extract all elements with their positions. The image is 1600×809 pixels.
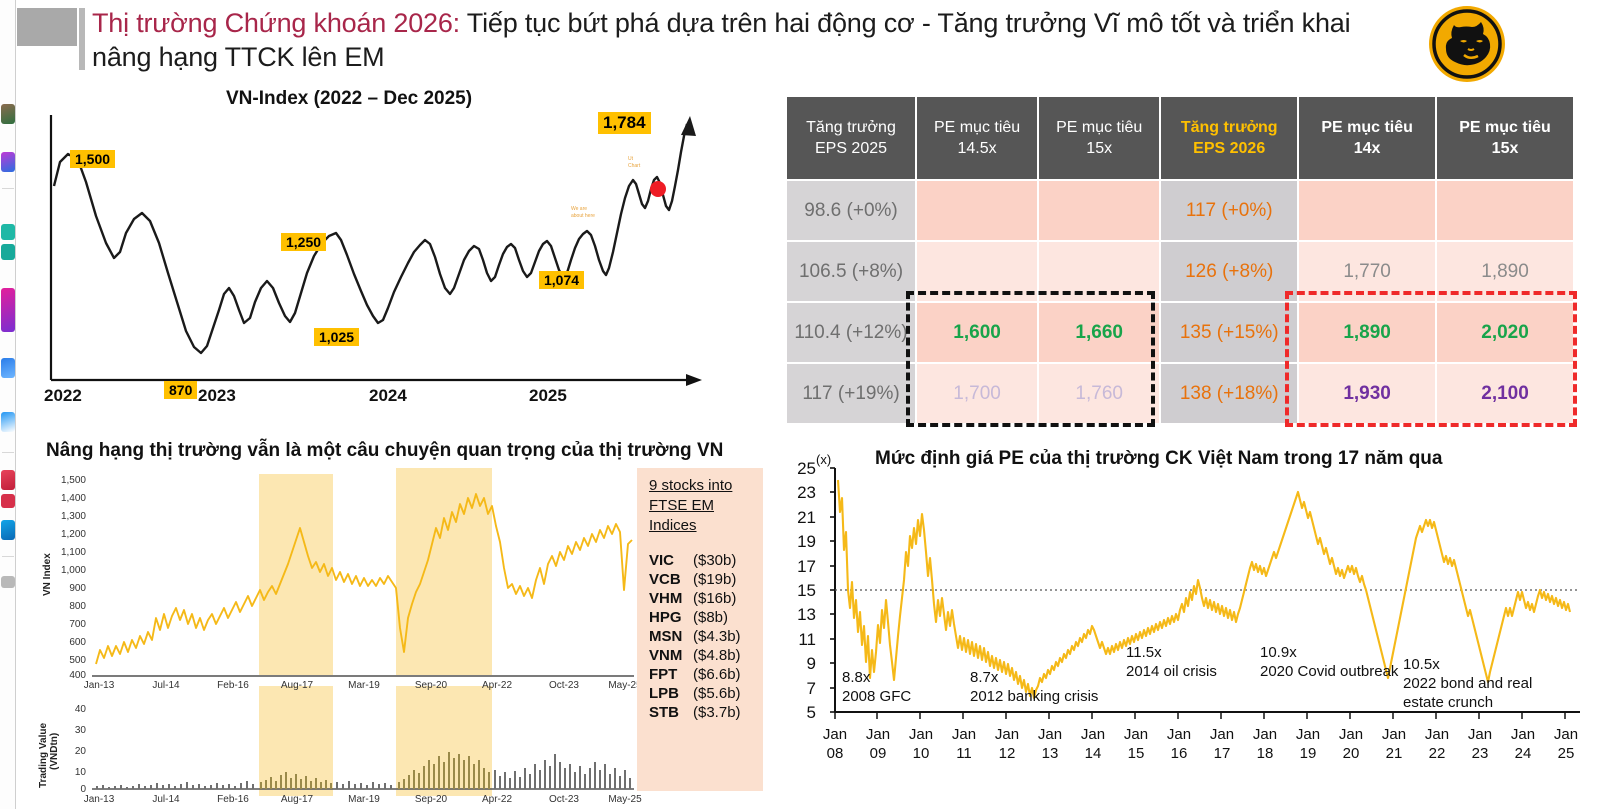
- pe-xtick-18-l1: Jan: [1246, 725, 1284, 744]
- pe-xtick-14: Jan14: [1074, 725, 1112, 763]
- xtick-lower-sep20: Sep-20: [404, 794, 458, 805]
- cell-eps25-r2: 106.5 (+8%): [786, 241, 916, 302]
- col-pe-145: PE mục tiêu 14.5x: [916, 96, 1038, 180]
- pe-xtick-08-l1: Jan: [816, 725, 854, 744]
- annotation-2022-bond-text-l1: 2022 bond and real: [1403, 674, 1532, 693]
- pe-xtick-24-l2: 24: [1504, 744, 1542, 763]
- ytick-500: 500: [46, 655, 86, 666]
- stock-value-stb: ($3.7b): [693, 704, 741, 721]
- annotation-2020-covid-text: 2020 Covid outbreak: [1260, 662, 1398, 681]
- pe-xtick-10-l1: Jan: [902, 725, 940, 744]
- col-pe-14-l2: 14x: [1354, 140, 1381, 157]
- pe-xtick-15: Jan15: [1117, 725, 1155, 763]
- annotation-2022-bond-text-l2: estate crunch: [1403, 693, 1532, 712]
- list-item: LPB($5.6b): [649, 685, 763, 702]
- pe-xtick-15-l1: Jan: [1117, 725, 1155, 744]
- app-icon-blue[interactable]: [1, 358, 15, 378]
- list-item: VNM($4.8b): [649, 647, 763, 664]
- stock-ticker-vcb: VCB: [649, 571, 693, 588]
- app-icon-magenta[interactable]: [1, 288, 15, 332]
- cell-pe145-r1: [916, 180, 1038, 241]
- pe-valuation-chart: (x) Mức định giá PE của thị trường CK Vi…: [790, 440, 1590, 800]
- pe-xtick-13-l2: 13: [1031, 744, 1069, 763]
- pe-xtick-18-l2: 18: [1246, 744, 1284, 763]
- xtick-lower-jul14: Jul-14: [139, 794, 193, 805]
- pe-xtick-10: Jan10: [902, 725, 940, 763]
- list-item: VIC($30b): [649, 552, 763, 569]
- annotation-2008-gfc: 8.8x 2008 GFC: [842, 668, 911, 706]
- pe-xtick-24: Jan24: [1504, 725, 1542, 763]
- stocks-panel-heading-l3: Indices: [649, 516, 763, 536]
- vnindex-xtick-2022: 2022: [44, 386, 82, 406]
- table-header-row: Tăng trưởng EPS 2025 PE mục tiêu 14.5x P…: [786, 96, 1574, 180]
- col-pe-145-l2: 14.5x: [958, 140, 997, 157]
- pe-xtick-21-l1: Jan: [1375, 725, 1413, 744]
- pe-xtick-15-l2: 15: [1117, 744, 1155, 763]
- pe-ytick-5: 5: [790, 703, 816, 723]
- pe-xtick-11-l2: 11: [945, 744, 983, 763]
- stocks-panel-heading-l2: FTSE EM: [649, 496, 763, 516]
- vol-ytick-40: 40: [46, 704, 86, 715]
- ytick-1300: 1,300: [46, 511, 86, 522]
- pe-xtick-17: Jan17: [1203, 725, 1241, 763]
- stock-value-fpt: ($6.6b): [693, 666, 741, 683]
- annotation-2012-banking: 8.7x 2012 banking crisis: [970, 668, 1098, 706]
- vnindex-xtick-2024: 2024: [369, 386, 407, 406]
- header-gray-block: [17, 8, 77, 46]
- pe-xtick-22-l2: 22: [1418, 744, 1456, 763]
- table-row: 98.6 (+0%) 117 (+0%): [786, 180, 1574, 241]
- pe-xtick-21-l2: 21: [1375, 744, 1413, 763]
- upgrade-block-title: Nâng hạng thị trường vẫn là một câu chuy…: [46, 440, 766, 462]
- pe-xtick-18: Jan18: [1246, 725, 1284, 763]
- ftse-em-stocks-panel: 9 stocks into FTSE EM Indices VIC($30b) …: [637, 468, 763, 791]
- table-header: Tăng trưởng EPS 2025 PE mục tiêu 14.5x P…: [786, 96, 1574, 180]
- y-axis-label-trading-value-l2: (VNDtn): [49, 733, 60, 770]
- pe-xtick-19: Jan19: [1289, 725, 1327, 763]
- pe-xtick-12: Jan12: [988, 725, 1026, 763]
- vnindex-label-1025: 1,025: [314, 328, 359, 346]
- xtick-lower-apr22: Apr-22: [470, 794, 524, 805]
- pe-xtick-16: Jan16: [1160, 725, 1198, 763]
- pe-xtick-10-l2: 10: [902, 744, 940, 763]
- cell-eps26-r2: 126 (+8%): [1160, 241, 1298, 302]
- annotation-2012-banking-value: 8.7x: [970, 668, 1098, 687]
- ytick-1400: 1,400: [46, 493, 86, 504]
- stock-value-vcb: ($19b): [693, 571, 736, 588]
- app-icon-teal[interactable]: [1, 224, 15, 240]
- ytick-1500: 1,500: [46, 475, 86, 486]
- pe-ytick-15: 15: [790, 581, 816, 601]
- stock-ticker-msn: MSN: [649, 628, 693, 645]
- ytick-800: 800: [46, 601, 86, 612]
- col-eps-2025-l1: Tăng trưởng: [806, 119, 896, 136]
- annotation-2020-covid-value: 10.9x: [1260, 643, 1398, 662]
- app-icon-photo[interactable]: [1, 104, 15, 124]
- stock-value-vic: ($30b): [693, 552, 736, 569]
- pe-xtick-20: Jan20: [1332, 725, 1370, 763]
- pe-ytick-13: 13: [790, 605, 816, 625]
- xtick-lower-jan13: Jan-13: [72, 794, 126, 805]
- vnindex-label-1074: 1,074: [539, 271, 584, 289]
- pe-xtick-09: Jan09: [859, 725, 897, 763]
- tiger-head-logo-svg: [1424, 3, 1510, 85]
- pe-ytick-25: 25: [790, 459, 816, 479]
- stock-value-vhm: ($16b): [693, 590, 736, 607]
- vnindex-xtick-2023: 2023: [198, 386, 236, 406]
- strip-divider-2: [2, 452, 14, 453]
- pe-xtick-17-l2: 17: [1203, 744, 1241, 763]
- app-icon-red2[interactable]: [1, 494, 15, 508]
- pe-xtick-14-l1: Jan: [1074, 725, 1112, 744]
- app-icon-purple[interactable]: [1, 152, 15, 172]
- xtick-upper-mar19: Mar-19: [337, 680, 391, 691]
- pe-ytick-19: 19: [790, 532, 816, 552]
- pe-xtick-23: Jan23: [1461, 725, 1499, 763]
- pe-xtick-19-l2: 19: [1289, 744, 1327, 763]
- vnindex-history-svg: [46, 468, 636, 798]
- y-axis-label-vnindex: VN Index: [42, 553, 53, 596]
- pe-ytick-21: 21: [790, 508, 816, 528]
- col-eps-2026-l1: Tăng trưởng: [1181, 119, 1278, 136]
- vnindex-marker-dot: [650, 181, 666, 197]
- pe-xtick-09-l2: 09: [859, 744, 897, 763]
- cell-eps26-r1: 117 (+0%): [1160, 180, 1298, 241]
- pe-xtick-20-l2: 20: [1332, 744, 1370, 763]
- annotation-2022-bond-value: 10.5x: [1403, 655, 1532, 674]
- vnindex-label-1250: 1,250: [281, 233, 326, 251]
- stocks-panel-heading-l1: 9 stocks into: [649, 476, 763, 496]
- col-eps-2025-l2: EPS 2025: [815, 140, 887, 157]
- col-eps-2026-l2: EPS 2026: [1193, 140, 1265, 157]
- app-icon-cyan[interactable]: [1, 520, 15, 540]
- xtick-lower-may25: May-25: [598, 794, 652, 805]
- col-pe-15-l2: 15x: [1086, 140, 1112, 157]
- stock-value-hpg: ($8b): [693, 609, 728, 626]
- pe-xtick-25-l2: 25: [1547, 744, 1585, 763]
- pe-xtick-19-l1: Jan: [1289, 725, 1327, 744]
- pe-xtick-12-l1: Jan: [988, 725, 1026, 744]
- app-icon-red[interactable]: [1, 470, 15, 490]
- list-item: MSN($4.3b): [649, 628, 763, 645]
- stock-ticker-stb: STB: [649, 704, 693, 721]
- list-item: FPT($6.6b): [649, 666, 763, 683]
- app-icon-skyblue[interactable]: [1, 412, 15, 432]
- stock-ticker-vhm: VHM: [649, 590, 693, 607]
- annotation-2014-oil-text: 2014 oil crisis: [1126, 662, 1217, 681]
- svg-text:about here: about here: [571, 213, 595, 219]
- vnindex-label-870: 870: [164, 381, 197, 399]
- pe-xtick-08: Jan08: [816, 725, 854, 763]
- annotation-2022-bond: 10.5x 2022 bond and real estate crunch: [1403, 655, 1532, 712]
- stock-value-msn: ($4.3b): [693, 628, 741, 645]
- pe-xtick-22-l1: Jan: [1418, 725, 1456, 744]
- pe-xtick-17-l1: Jan: [1203, 725, 1241, 744]
- stock-value-lpb: ($5.6b): [693, 685, 741, 702]
- xtick-lower-feb16: Feb-16: [206, 794, 260, 805]
- annotation-2008-gfc-value: 8.8x: [842, 668, 911, 687]
- stock-ticker-vnm: VNM: [649, 647, 693, 664]
- col-pe-145-l1: PE mục tiêu: [934, 119, 1020, 136]
- app-icon-gray[interactable]: [1, 576, 15, 588]
- stock-ticker-hpg: HPG: [649, 609, 693, 626]
- pe-xtick-13-l1: Jan: [1031, 725, 1069, 744]
- col-pe-15-l1: PE mục tiêu: [1056, 119, 1142, 136]
- xtick-upper-feb16: Feb-16: [206, 680, 260, 691]
- highlight-box-2026-targets: [1285, 291, 1577, 427]
- ytick-600: 600: [46, 637, 86, 648]
- pe-ytick-7: 7: [790, 679, 816, 699]
- strip-divider-3: [2, 556, 14, 557]
- pe-xtick-11: Jan11: [945, 725, 983, 763]
- svg-text:Ut: Ut: [628, 156, 634, 162]
- pe-xtick-25: Jan25: [1547, 725, 1585, 763]
- col-eps-2025: Tăng trưởng EPS 2025: [786, 96, 916, 180]
- os-taskbar-strip: [0, 0, 16, 809]
- annotation-2014-oil: 11.5x 2014 oil crisis: [1126, 643, 1217, 681]
- pe-xtick-13: Jan13: [1031, 725, 1069, 763]
- xtick-upper-oct23: Oct-23: [537, 680, 591, 691]
- pe-xtick-08-l2: 08: [816, 744, 854, 763]
- pe-xtick-24-l1: Jan: [1504, 725, 1542, 744]
- xtick-lower-oct23: Oct-23: [537, 794, 591, 805]
- annotation-2008-gfc-text: 2008 GFC: [842, 687, 911, 706]
- cell-eps26-r4: 138 (+18%): [1160, 363, 1298, 424]
- list-item: HPG($8b): [649, 609, 763, 626]
- pe-xtick-20-l1: Jan: [1332, 725, 1370, 744]
- pe-xtick-21: Jan21: [1375, 725, 1413, 763]
- pe-xtick-23-l2: 23: [1461, 744, 1499, 763]
- pe-xtick-16-l2: 16: [1160, 744, 1198, 763]
- svg-text:We are: We are: [571, 206, 587, 212]
- y-axis-label-trading-value-l1: Trading Value: [38, 723, 49, 788]
- xtick-upper-jul14: Jul-14: [139, 680, 193, 691]
- col-pe-15: PE mục tiêu 15x: [1038, 96, 1160, 180]
- xtick-lower-mar19: Mar-19: [337, 794, 391, 805]
- xtick-upper-jan13: Jan-13: [72, 680, 126, 691]
- svg-text:Chart: Chart: [628, 163, 641, 169]
- col-pe-15b-l1: PE mục tiêu: [1459, 119, 1551, 136]
- col-eps-2026: Tăng trưởng EPS 2026: [1160, 96, 1298, 180]
- vnindex-label-1784: 1,784: [598, 112, 651, 134]
- cell-pe15b-r1: [1436, 180, 1574, 241]
- ytick-700: 700: [46, 619, 86, 630]
- vnindex-label-1500: 1,500: [70, 150, 115, 168]
- stock-ticker-fpt: FPT: [649, 666, 693, 683]
- annotation-2014-oil-value: 11.5x: [1126, 643, 1217, 662]
- stock-ticker-lpb: LPB: [649, 685, 693, 702]
- title-accent-bar: [79, 8, 85, 70]
- pe-chart-svg: [790, 440, 1590, 770]
- strip-divider-1: [2, 188, 14, 189]
- list-item: VHM($16b): [649, 590, 763, 607]
- pe-xtick-12-l2: 12: [988, 744, 1026, 763]
- stock-value-vnm: ($4.8b): [693, 647, 741, 664]
- cell-eps25-r3: 110.4 (+12%): [786, 302, 916, 363]
- pe-ytick-17: 17: [790, 557, 816, 577]
- pe-xtick-09-l1: Jan: [859, 725, 897, 744]
- pe-xtick-23-l1: Jan: [1461, 725, 1499, 744]
- pe-xtick-16-l1: Jan: [1160, 725, 1198, 744]
- pe-xtick-14-l2: 14: [1074, 744, 1112, 763]
- pe-xtick-11-l1: Jan: [945, 725, 983, 744]
- vnindex-xtick-2025: 2025: [529, 386, 567, 406]
- page-title: Thị trường Chứng khoán 2026: Tiếp tục bứ…: [92, 6, 1402, 74]
- vnindex-chart-svg: We are about here Ut Chart: [26, 88, 746, 408]
- list-item: VCB($19b): [649, 571, 763, 588]
- cell-pe14-r1: [1298, 180, 1436, 241]
- vnindex-chart: VN-Index (2022 – Dec 2025) We are about …: [26, 88, 746, 433]
- app-icon-teal2[interactable]: [1, 244, 15, 260]
- cell-eps25-r4: 117 (+19%): [786, 363, 916, 424]
- col-pe-14-l1: PE mục tiêu: [1321, 119, 1413, 136]
- vnindex-history-chart: 1,500 1,400 1,300 1,200 1,100 1,000 900 …: [46, 468, 636, 798]
- tiger-head-logo: [1424, 3, 1510, 85]
- pe-ytick-9: 9: [790, 654, 816, 674]
- pe-ytick-23: 23: [790, 483, 816, 503]
- pe-xtick-22: Jan22: [1418, 725, 1456, 763]
- cell-eps26-r3: 135 (+15%): [1160, 302, 1298, 363]
- pe-ytick-11: 11: [790, 630, 816, 650]
- cell-eps25-r1: 98.6 (+0%): [786, 180, 916, 241]
- ytick-1200: 1,200: [46, 529, 86, 540]
- xtick-upper-apr22: Apr-22: [470, 680, 524, 691]
- xtick-upper-aug17: Aug-17: [270, 680, 324, 691]
- pe-xtick-25-l1: Jan: [1547, 725, 1585, 744]
- highlight-box-2025-targets: [906, 291, 1155, 427]
- xtick-upper-sep20: Sep-20: [404, 680, 458, 691]
- annotation-2020-covid: 10.9x 2020 Covid outbreak: [1260, 643, 1398, 681]
- annotation-2012-banking-text: 2012 banking crisis: [970, 687, 1098, 706]
- col-pe-15b-l2: 15x: [1492, 140, 1519, 157]
- col-pe-14: PE mục tiêu 14x: [1298, 96, 1436, 180]
- stock-ticker-vic: VIC: [649, 552, 693, 569]
- cell-pe15-r1: [1038, 180, 1160, 241]
- xtick-lower-aug17: Aug-17: [270, 794, 324, 805]
- col-pe-15b: PE mục tiêu 15x: [1436, 96, 1574, 180]
- page-title-accent: Thị trường Chứng khoán 2026:: [92, 8, 460, 38]
- list-item: STB($3.7b): [649, 704, 763, 721]
- slide-root: Thị trường Chứng khoán 2026: Tiếp tục bứ…: [0, 0, 1600, 809]
